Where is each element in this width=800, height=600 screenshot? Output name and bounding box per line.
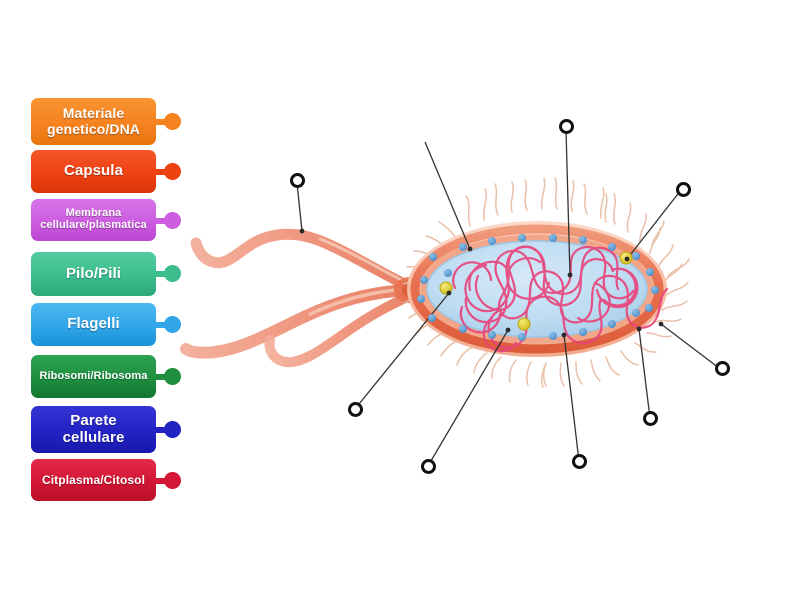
diagram-canvas: Materiale genetico/DNA Capsula Membrana …	[0, 0, 800, 600]
drop-target-m-granulo-destro[interactable]	[676, 182, 691, 197]
label-chip-citoplasma[interactable]: Citplasma/Citosol	[31, 459, 156, 501]
flagella-group	[186, 234, 410, 362]
drop-target-m-parete-destra[interactable]	[715, 361, 730, 376]
drop-target-m-citoplasma[interactable]	[421, 459, 436, 474]
label-text-line2: cellulare	[63, 429, 125, 446]
drop-target-m-granulo-sinistro[interactable]	[348, 402, 363, 417]
label-chip-flagelli[interactable]: Flagelli	[31, 303, 156, 346]
connector-knob-ribosomi[interactable]	[164, 368, 181, 385]
connector-knob-membrana[interactable]	[164, 212, 181, 229]
label-text-line2: cellulare/plasmatica	[40, 219, 147, 231]
label-chip-materiale-genetico[interactable]: Materiale genetico/DNA	[31, 98, 156, 145]
connector-knob-flagelli[interactable]	[164, 316, 181, 333]
drop-target-m-flagello[interactable]	[290, 173, 305, 188]
connector-knob-capsula[interactable]	[164, 163, 181, 180]
label-text-flagelli: Flagelli	[36, 316, 151, 332]
label-text-line2: genetico/DNA	[47, 121, 140, 137]
connector-knob-citoplasma[interactable]	[164, 472, 181, 489]
label-chip-pilo-pili[interactable]: Pilo/Pili	[31, 252, 156, 296]
drop-target-m-membrana[interactable]	[572, 454, 587, 469]
label-text-line1: Materiale	[63, 105, 125, 121]
connector-knob-pilo-pili[interactable]	[164, 265, 181, 282]
connector-knob-materiale-genetico[interactable]	[164, 113, 181, 130]
label-text-ribosomi: Ribosomi/Ribosoma	[36, 371, 151, 383]
label-text-citoplasma: Citplasma/Citosol	[36, 474, 151, 487]
drop-target-m-pili[interactable]	[643, 411, 658, 426]
label-text-capsula: Capsula	[36, 163, 151, 179]
label-chip-capsula[interactable]: Capsula	[31, 150, 156, 193]
connector-knob-parete-cellulare[interactable]	[164, 421, 181, 438]
label-chip-ribosomi[interactable]: Ribosomi/Ribosoma	[31, 355, 156, 398]
label-text-pilo-pili: Pilo/Pili	[36, 266, 151, 282]
label-text-line1: Membrana	[66, 207, 122, 219]
label-text-line1: Parete	[70, 412, 116, 429]
label-chip-parete-cellulare[interactable]: Parete cellulare	[31, 406, 156, 453]
label-chip-membrana-cellulare[interactable]: Membrana cellulare/plasmatica	[31, 199, 156, 241]
bacterial-cell-illustration	[0, 0, 800, 600]
drop-target-m-dna[interactable]	[559, 119, 574, 134]
